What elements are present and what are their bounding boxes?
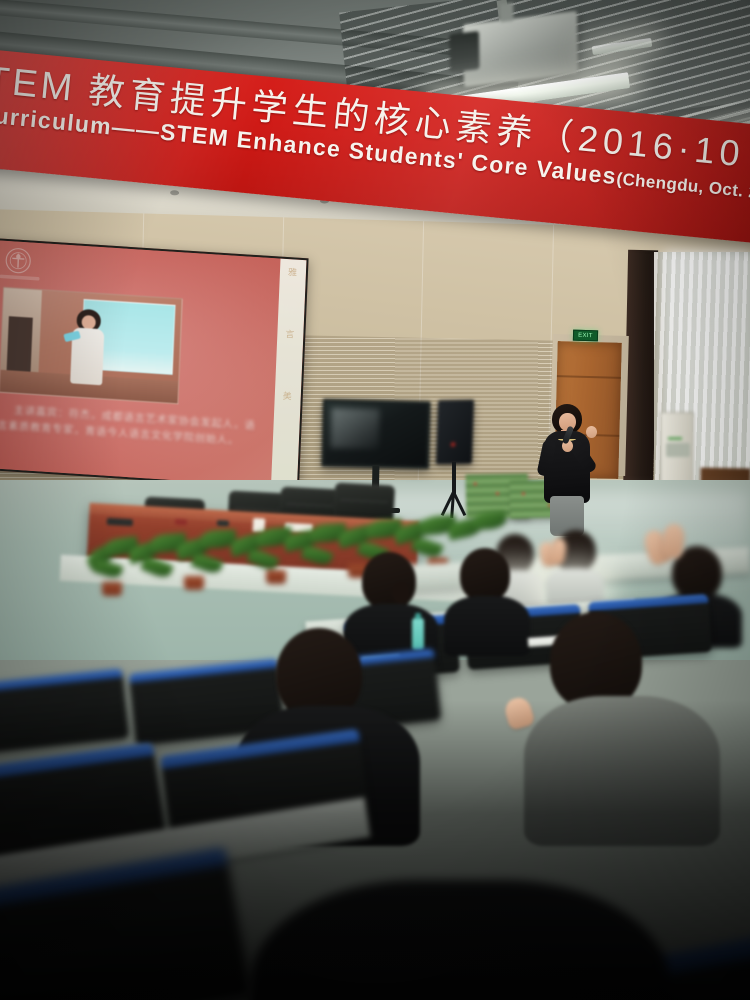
water-bottle[interactable]: [412, 618, 424, 650]
banner-line2-c: (Chengdu, Oct. 2016): [616, 169, 750, 205]
projection-screen: 雅 言 美 主讲嘉宾：符杰，成都语言艺术家协会发起人，语言素质教育专家，育语今人…: [0, 238, 309, 490]
ac-control-panel[interactable]: [666, 443, 690, 457]
banner-line1-prefix: TEM: [0, 59, 77, 110]
ac-indicator-light: [668, 437, 682, 440]
exit-sign: EXIT: [573, 330, 598, 342]
audience-area: [0, 500, 750, 1000]
exit-sign-label: EXIT: [578, 332, 593, 338]
auditorium-chair[interactable]: [0, 668, 129, 753]
hand: [502, 695, 535, 731]
flat-panel-monitor[interactable]: [321, 399, 431, 470]
circular-emblem-icon: [0, 244, 49, 285]
photo-scene: EXIT 雅: [0, 0, 750, 1000]
slide-speaker-photo: [0, 287, 183, 405]
pa-loudspeaker: [436, 400, 474, 465]
presenter-hand: [586, 426, 597, 438]
